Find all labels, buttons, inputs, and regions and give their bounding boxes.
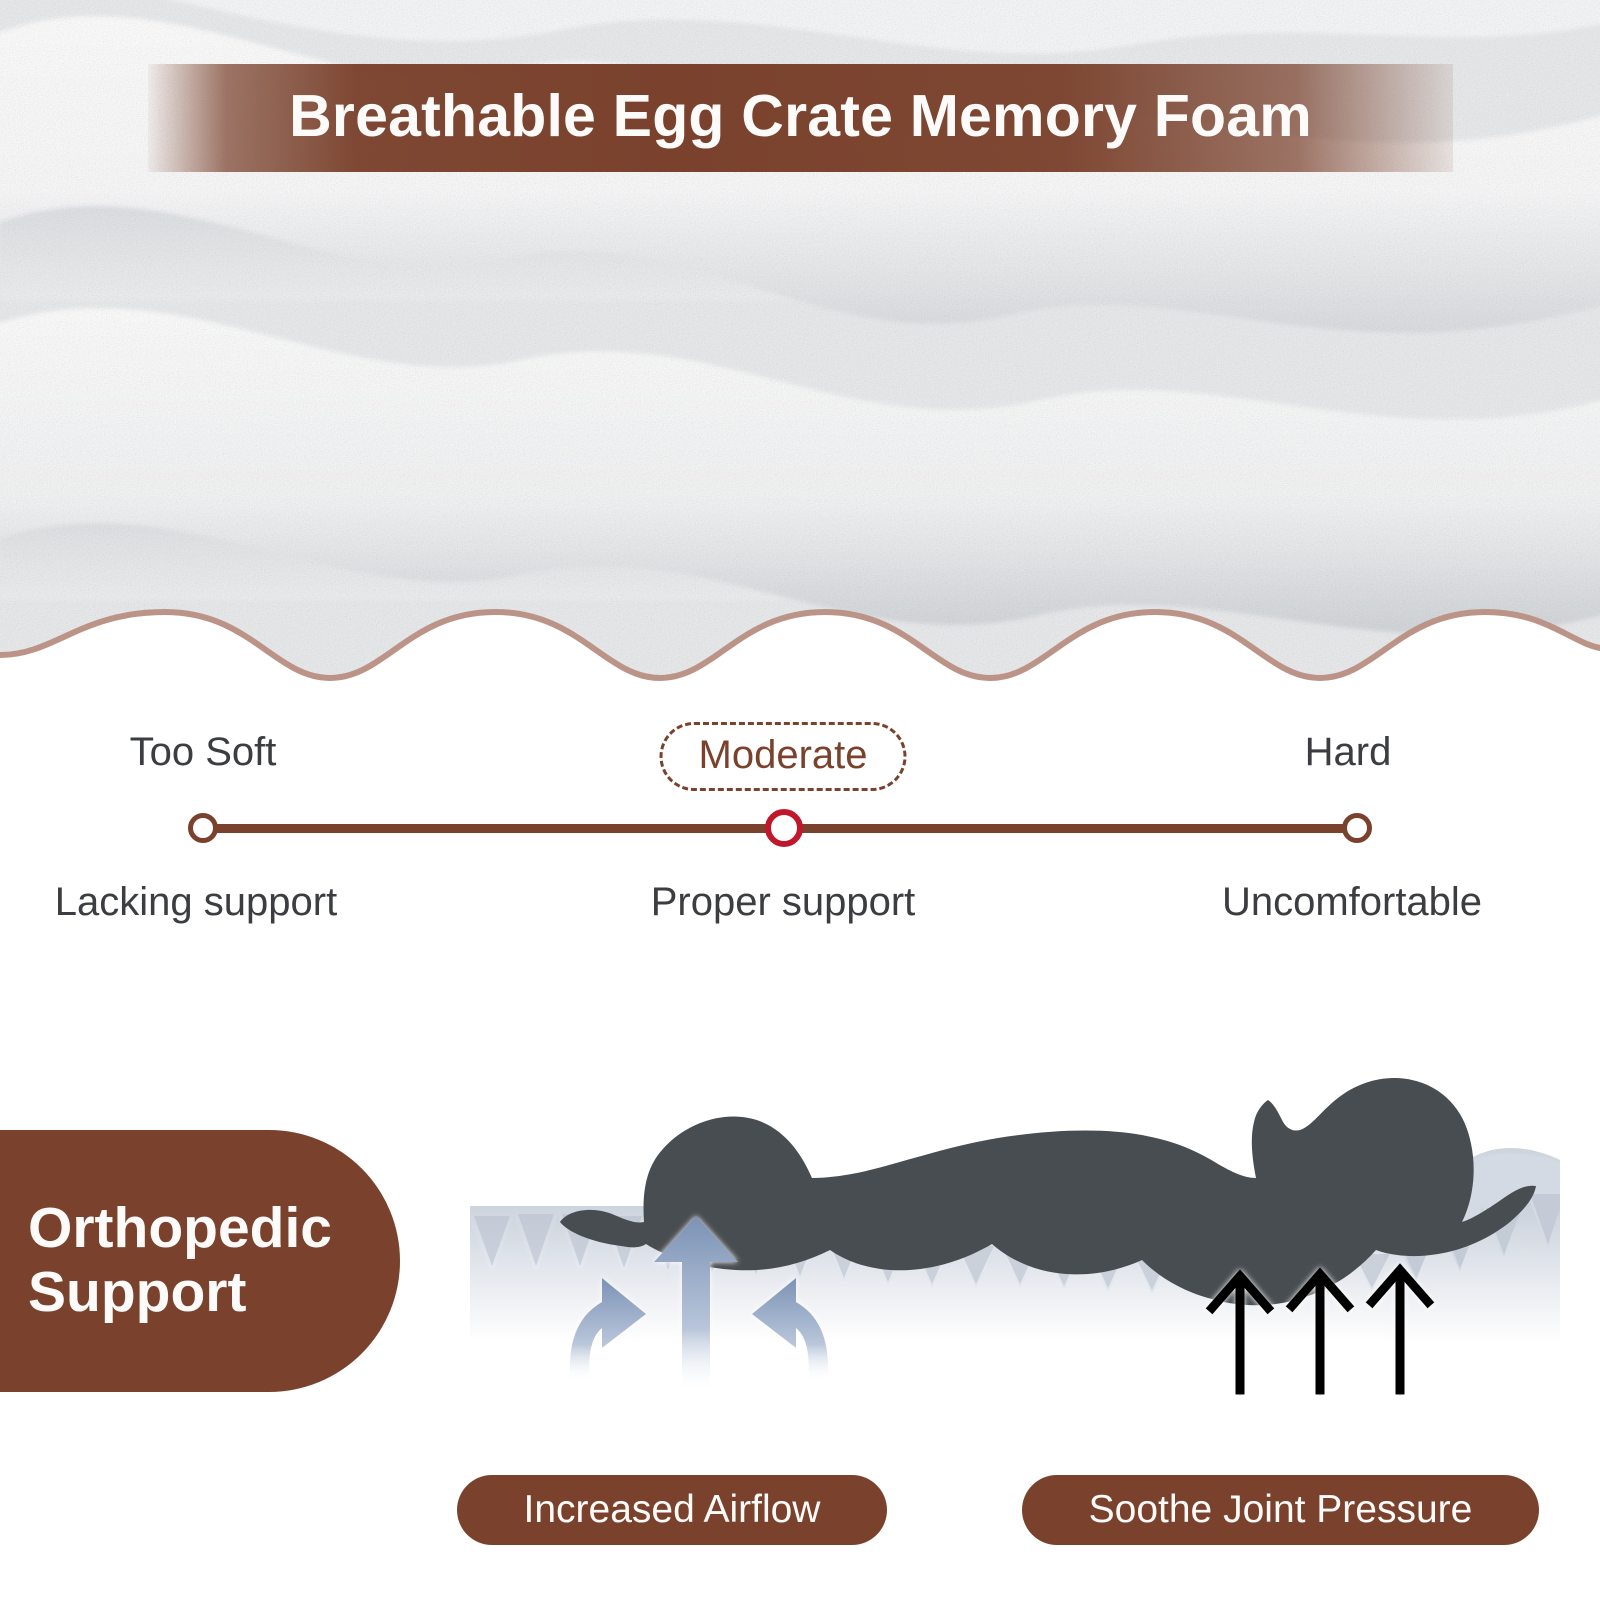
- scale-top-label-2: Hard: [1305, 730, 1392, 775]
- scale-bottom-label-0: Lacking support: [55, 880, 337, 925]
- orthopedic-support-badge: Orthopedic Support: [0, 1130, 400, 1392]
- scale-bottom-label-1: Proper support: [651, 880, 916, 925]
- page-title: Breathable Egg Crate Memory Foam: [289, 87, 1312, 146]
- title-banner: Breathable Egg Crate Memory Foam: [148, 64, 1453, 172]
- orthopedic-illustration: [440, 1010, 1600, 1470]
- product-infographic: Breathable Egg Crate Memory Foam Too Sof…: [0, 0, 1600, 1600]
- pill-soothe-joint-pressure: Soothe Joint Pressure: [1022, 1475, 1539, 1545]
- firmness-scale: Too Soft Lacking support Moderate Proper…: [0, 700, 1600, 960]
- pressure-arrows: [1212, 1270, 1428, 1390]
- pill-increased-airflow: Increased Airflow: [457, 1475, 887, 1545]
- orthopedic-support-label: Orthopedic Support: [28, 1197, 332, 1325]
- scale-dot-moderate[interactable]: [765, 809, 803, 847]
- scale-dot-hard[interactable]: [1342, 813, 1372, 843]
- scale-bottom-label-2: Uncomfortable: [1222, 880, 1482, 925]
- scale-top-label-0: Too Soft: [130, 730, 277, 775]
- moderate-badge[interactable]: Moderate: [660, 722, 907, 791]
- wavy-divider: [0, 600, 1600, 710]
- scale-dot-too-soft[interactable]: [188, 813, 218, 843]
